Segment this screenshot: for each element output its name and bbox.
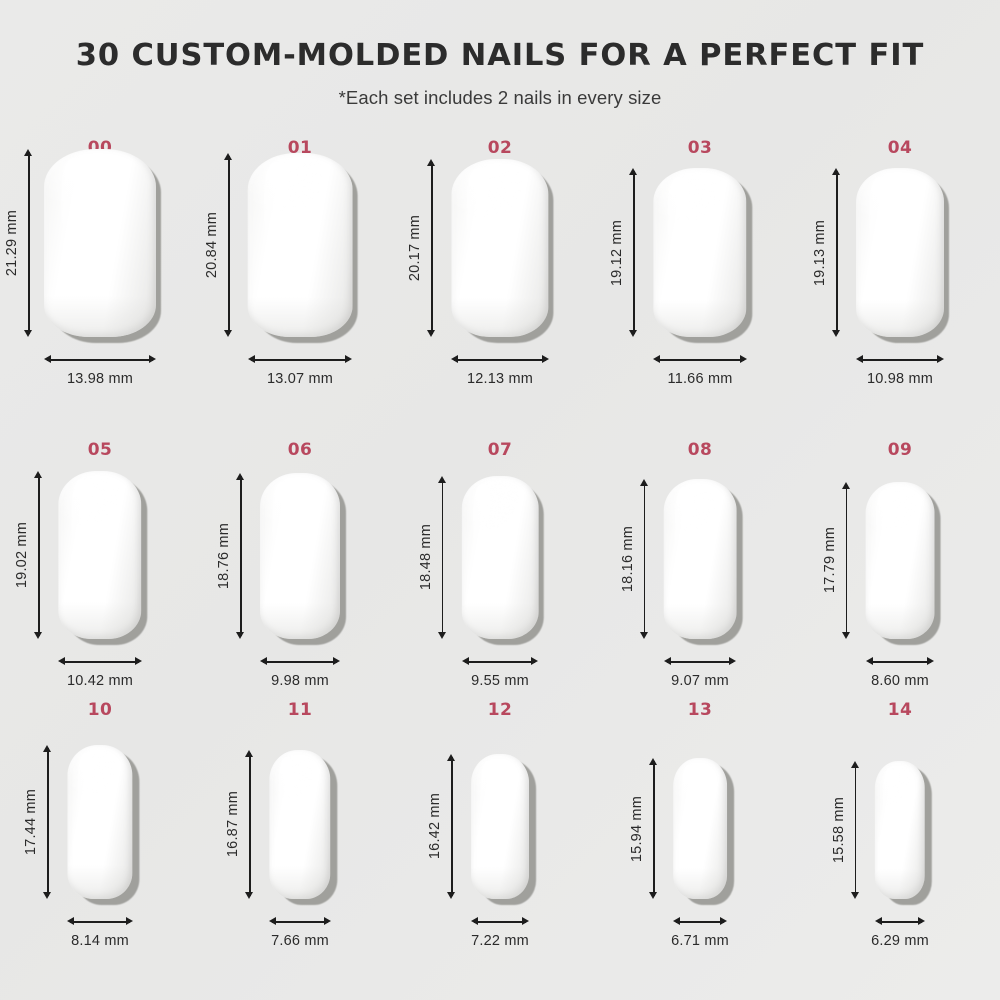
arrow-right-icon bbox=[522, 917, 529, 925]
dimension-line bbox=[442, 479, 444, 636]
length-value-label: 15.58 mm bbox=[831, 797, 847, 863]
nail-body bbox=[875, 761, 925, 899]
length-dimension-05: 19.02 mm bbox=[14, 471, 43, 639]
length-arrow-line bbox=[236, 473, 245, 639]
width-arrow-line bbox=[58, 657, 141, 666]
arrow-right-icon bbox=[149, 355, 156, 363]
dimension-line bbox=[431, 162, 433, 334]
nail-body bbox=[664, 479, 737, 639]
arrow-down-icon bbox=[34, 632, 42, 639]
width-dimension-02: 12.13 mm bbox=[400, 355, 600, 387]
dimension-line bbox=[633, 171, 635, 334]
dimension-line bbox=[846, 485, 848, 636]
length-value-label: 18.76 mm bbox=[216, 523, 232, 589]
width-arrow-line bbox=[269, 917, 330, 926]
length-arrow-line bbox=[851, 761, 860, 899]
dimension-line bbox=[656, 359, 743, 361]
width-value-label: 8.14 mm bbox=[71, 933, 129, 949]
length-dimension-11: 16.87 mm bbox=[225, 750, 254, 899]
width-value-label: 13.07 mm bbox=[267, 371, 333, 387]
dimension-line bbox=[28, 152, 30, 334]
arrow-right-icon bbox=[126, 917, 133, 925]
arrow-right-icon bbox=[135, 657, 142, 665]
nail-image-09 bbox=[866, 482, 935, 639]
arrow-right-icon bbox=[345, 355, 352, 363]
page-title: 30 CUSTOM-MOLDED NAILS FOR A PERFECT FIT bbox=[0, 0, 1000, 73]
nail-size-cell-13[interactable]: 1315.94 mm6.71 mm bbox=[600, 695, 800, 955]
length-dimension-06: 18.76 mm bbox=[216, 473, 245, 639]
dimension-line bbox=[451, 757, 453, 896]
nail-size-cell-04[interactable]: 0419.13 mm10.98 mm bbox=[800, 133, 1000, 393]
nail-gloss-highlight bbox=[471, 484, 492, 563]
length-arrow-line bbox=[224, 153, 233, 337]
width-value-label: 10.98 mm bbox=[867, 371, 933, 387]
nail-body bbox=[58, 471, 141, 639]
length-value-label: 16.42 mm bbox=[427, 793, 443, 859]
nail-gloss-highlight bbox=[478, 761, 494, 831]
dimension-line bbox=[855, 764, 857, 896]
nail-body bbox=[451, 159, 548, 337]
length-dimension-14: 15.58 mm bbox=[831, 761, 860, 899]
length-arrow-line bbox=[447, 754, 456, 899]
dimension-line bbox=[61, 661, 138, 663]
width-arrow-line bbox=[67, 917, 132, 926]
dimension-line bbox=[869, 661, 932, 663]
dimension-line bbox=[251, 359, 350, 361]
nail-image-00 bbox=[44, 149, 156, 337]
width-arrow-line bbox=[44, 355, 156, 364]
arrow-down-icon bbox=[842, 632, 850, 639]
length-value-label: 16.87 mm bbox=[225, 791, 241, 857]
length-value-label: 18.16 mm bbox=[620, 526, 636, 592]
width-value-label: 10.42 mm bbox=[67, 673, 133, 689]
width-dimension-13: 6.71 mm bbox=[600, 917, 800, 949]
nail-size-cell-02[interactable]: 0220.17 mm12.13 mm bbox=[400, 133, 600, 393]
width-value-label: 9.55 mm bbox=[471, 673, 529, 689]
arrow-down-icon bbox=[649, 892, 657, 899]
nail-gloss-highlight bbox=[277, 757, 294, 829]
arrow-right-icon bbox=[729, 657, 736, 665]
nail-image-06 bbox=[260, 473, 340, 639]
arrow-down-icon bbox=[427, 330, 435, 337]
width-arrow-line bbox=[260, 657, 340, 666]
nail-size-cell-09[interactable]: 0917.79 mm8.60 mm bbox=[800, 435, 1000, 695]
dimension-line bbox=[263, 661, 337, 663]
width-arrow-line bbox=[471, 917, 529, 926]
dimension-line bbox=[667, 661, 734, 663]
nail-size-cell-05[interactable]: 0519.02 mm10.42 mm bbox=[0, 435, 200, 695]
nail-size-cell-08[interactable]: 0818.16 mm9.07 mm bbox=[600, 435, 800, 695]
arrow-down-icon bbox=[438, 632, 446, 639]
length-arrow-line bbox=[24, 149, 33, 337]
width-arrow-line bbox=[462, 657, 539, 666]
nail-gloss-highlight bbox=[270, 481, 292, 561]
nail-gloss-highlight bbox=[867, 176, 891, 258]
length-value-label: 19.02 mm bbox=[14, 522, 30, 588]
nail-gloss-highlight bbox=[75, 752, 93, 827]
dimension-line bbox=[465, 661, 536, 663]
length-value-label: 17.79 mm bbox=[822, 527, 838, 593]
nail-image-02 bbox=[451, 159, 548, 337]
width-arrow-line bbox=[866, 657, 935, 666]
length-value-label: 17.44 mm bbox=[23, 789, 39, 855]
length-arrow-line bbox=[245, 750, 254, 899]
dimension-line bbox=[859, 359, 941, 361]
dimension-line bbox=[70, 921, 129, 923]
nail-gloss-highlight bbox=[881, 768, 896, 835]
width-dimension-14: 6.29 mm bbox=[800, 917, 1000, 949]
dimension-line bbox=[454, 359, 545, 361]
nail-body bbox=[269, 750, 330, 899]
dimension-line bbox=[653, 761, 655, 896]
nail-image-01 bbox=[248, 153, 353, 337]
width-value-label: 9.07 mm bbox=[671, 673, 729, 689]
nail-image-05 bbox=[58, 471, 141, 639]
nail-size-row: 1017.44 mm8.14 mm1116.87 mm7.66 mm1216.4… bbox=[0, 695, 1000, 955]
nail-size-cell-01[interactable]: 0120.84 mm13.07 mm bbox=[200, 133, 400, 393]
length-arrow-line bbox=[629, 168, 638, 337]
nail-size-row: 0021.29 mm13.98 mm0120.84 mm13.07 mm0220… bbox=[0, 133, 1000, 393]
arrow-down-icon bbox=[640, 632, 648, 639]
width-arrow-line bbox=[451, 355, 548, 364]
arrow-down-icon bbox=[224, 330, 232, 337]
arrow-down-icon bbox=[245, 892, 253, 899]
arrow-right-icon bbox=[937, 355, 944, 363]
width-arrow-line bbox=[653, 355, 746, 364]
arrow-down-icon bbox=[43, 892, 51, 899]
width-value-label: 13.98 mm bbox=[67, 371, 133, 387]
arrow-down-icon bbox=[851, 892, 859, 899]
arrow-right-icon bbox=[324, 917, 331, 925]
length-arrow-line bbox=[438, 476, 447, 639]
nail-size-cell-10[interactable]: 1017.44 mm8.14 mm bbox=[0, 695, 200, 955]
nail-body bbox=[462, 476, 539, 639]
width-dimension-05: 10.42 mm bbox=[0, 657, 200, 689]
width-arrow-line bbox=[248, 355, 353, 364]
width-dimension-06: 9.98 mm bbox=[200, 657, 400, 689]
length-value-label: 18.48 mm bbox=[418, 524, 434, 590]
arrow-down-icon bbox=[629, 330, 637, 337]
nail-size-chart: 30 CUSTOM-MOLDED NAILS FOR A PERFECT FIT… bbox=[0, 0, 1000, 1000]
nail-size-cell-06[interactable]: 0618.76 mm9.98 mm bbox=[200, 435, 400, 695]
dimension-line bbox=[676, 921, 724, 923]
dimension-line bbox=[878, 921, 922, 923]
nail-body bbox=[67, 745, 132, 899]
length-value-label: 19.12 mm bbox=[609, 220, 625, 286]
dimension-line bbox=[47, 359, 153, 361]
nail-gloss-highlight bbox=[69, 479, 92, 560]
nail-body bbox=[260, 473, 340, 639]
length-value-label: 21.29 mm bbox=[4, 210, 20, 276]
width-value-label: 8.60 mm bbox=[871, 673, 929, 689]
dimension-line bbox=[47, 748, 49, 896]
nail-size-cell-07[interactable]: 0718.48 mm9.55 mm bbox=[400, 435, 600, 695]
nail-body bbox=[44, 149, 156, 337]
nail-size-cell-12[interactable]: 1216.42 mm7.22 mm bbox=[400, 695, 600, 955]
nail-image-14 bbox=[875, 761, 925, 899]
dimension-line bbox=[644, 482, 646, 636]
dimension-line bbox=[38, 474, 40, 636]
nail-body bbox=[653, 168, 746, 337]
nail-size-cell-11[interactable]: 1116.87 mm7.66 mm bbox=[200, 695, 400, 955]
length-arrow-line bbox=[43, 745, 52, 899]
nail-gloss-highlight bbox=[673, 486, 693, 564]
width-value-label: 7.66 mm bbox=[271, 933, 329, 949]
nail-gloss-highlight bbox=[679, 765, 694, 833]
arrow-down-icon bbox=[832, 330, 840, 337]
nail-gloss-highlight bbox=[665, 176, 690, 258]
length-arrow-line bbox=[832, 168, 841, 337]
nail-body bbox=[471, 754, 529, 899]
width-value-label: 7.22 mm bbox=[471, 933, 529, 949]
nail-size-row: 0519.02 mm10.42 mm0618.76 mm9.98 mm0718.… bbox=[0, 435, 1000, 695]
width-dimension-07: 9.55 mm bbox=[400, 657, 600, 689]
nail-body bbox=[673, 758, 727, 899]
dimension-line bbox=[240, 476, 242, 636]
length-dimension-10: 17.44 mm bbox=[23, 745, 52, 899]
nail-image-08 bbox=[664, 479, 737, 639]
dimension-line bbox=[272, 921, 327, 923]
length-arrow-line bbox=[34, 471, 43, 639]
nail-image-13 bbox=[673, 758, 727, 899]
nail-gloss-highlight bbox=[58, 158, 87, 249]
width-value-label: 6.29 mm bbox=[871, 933, 929, 949]
arrow-right-icon bbox=[542, 355, 549, 363]
length-dimension-12: 16.42 mm bbox=[427, 754, 456, 899]
nail-image-10 bbox=[67, 745, 132, 899]
page-subtitle: *Each set includes 2 nails in every size bbox=[0, 73, 1000, 109]
length-value-label: 15.94 mm bbox=[629, 796, 645, 862]
nail-image-12 bbox=[471, 754, 529, 899]
length-dimension-00: 21.29 mm bbox=[4, 149, 33, 337]
nail-image-03 bbox=[653, 168, 746, 337]
length-dimension-01: 20.84 mm bbox=[204, 153, 233, 337]
length-arrow-line bbox=[649, 758, 658, 899]
length-value-label: 20.84 mm bbox=[204, 212, 220, 278]
arrow-right-icon bbox=[720, 917, 727, 925]
length-dimension-09: 17.79 mm bbox=[822, 482, 851, 639]
arrow-right-icon bbox=[333, 657, 340, 665]
width-value-label: 11.66 mm bbox=[668, 371, 733, 387]
width-dimension-09: 8.60 mm bbox=[800, 657, 1000, 689]
width-dimension-00: 13.98 mm bbox=[0, 355, 200, 387]
nail-body bbox=[866, 482, 935, 639]
length-dimension-07: 18.48 mm bbox=[418, 476, 447, 639]
width-dimension-12: 7.22 mm bbox=[400, 917, 600, 949]
width-value-label: 12.13 mm bbox=[467, 371, 533, 387]
length-value-label: 20.17 mm bbox=[407, 215, 423, 281]
nail-image-11 bbox=[269, 750, 330, 899]
arrow-down-icon bbox=[447, 892, 455, 899]
width-arrow-line bbox=[664, 657, 737, 666]
width-value-label: 9.98 mm bbox=[271, 673, 329, 689]
width-arrow-line bbox=[673, 917, 727, 926]
width-dimension-03: 11.66 mm bbox=[600, 355, 800, 387]
nail-size-cell-00[interactable]: 0021.29 mm13.98 mm bbox=[0, 133, 200, 393]
arrow-right-icon bbox=[740, 355, 747, 363]
nail-image-07 bbox=[462, 476, 539, 639]
length-dimension-03: 19.12 mm bbox=[609, 168, 638, 337]
width-arrow-line bbox=[856, 355, 944, 364]
width-dimension-04: 10.98 mm bbox=[800, 355, 1000, 387]
length-dimension-02: 20.17 mm bbox=[407, 159, 436, 337]
arrow-right-icon bbox=[918, 917, 925, 925]
chart-header: 30 CUSTOM-MOLDED NAILS FOR A PERFECT FIT… bbox=[0, 0, 1000, 109]
width-dimension-01: 13.07 mm bbox=[200, 355, 400, 387]
dimension-line bbox=[249, 753, 251, 896]
length-dimension-13: 15.94 mm bbox=[629, 758, 658, 899]
arrow-right-icon bbox=[927, 657, 934, 665]
arrow-down-icon bbox=[236, 632, 244, 639]
length-value-label: 19.13 mm bbox=[812, 220, 828, 286]
length-arrow-line bbox=[640, 479, 649, 639]
nail-image-04 bbox=[856, 168, 944, 337]
nail-gloss-highlight bbox=[261, 162, 289, 251]
dimension-line bbox=[228, 156, 230, 334]
length-arrow-line bbox=[427, 159, 436, 337]
width-dimension-10: 8.14 mm bbox=[0, 917, 200, 949]
nail-gloss-highlight bbox=[874, 489, 893, 565]
width-value-label: 6.71 mm bbox=[671, 933, 729, 949]
length-dimension-04: 19.13 mm bbox=[812, 168, 841, 337]
nail-gloss-highlight bbox=[464, 167, 490, 253]
length-arrow-line bbox=[842, 482, 851, 639]
width-dimension-11: 7.66 mm bbox=[200, 917, 400, 949]
length-dimension-08: 18.16 mm bbox=[620, 479, 649, 639]
nail-size-cell-03[interactable]: 0319.12 mm11.66 mm bbox=[600, 133, 800, 393]
dimension-line bbox=[836, 171, 838, 334]
arrow-down-icon bbox=[24, 330, 32, 337]
width-arrow-line bbox=[875, 917, 925, 926]
width-dimension-08: 9.07 mm bbox=[600, 657, 800, 689]
dimension-line bbox=[474, 921, 526, 923]
nail-size-cell-14[interactable]: 1415.58 mm6.29 mm bbox=[800, 695, 1000, 955]
arrow-right-icon bbox=[531, 657, 538, 665]
nail-body bbox=[248, 153, 353, 337]
nail-body bbox=[856, 168, 944, 337]
